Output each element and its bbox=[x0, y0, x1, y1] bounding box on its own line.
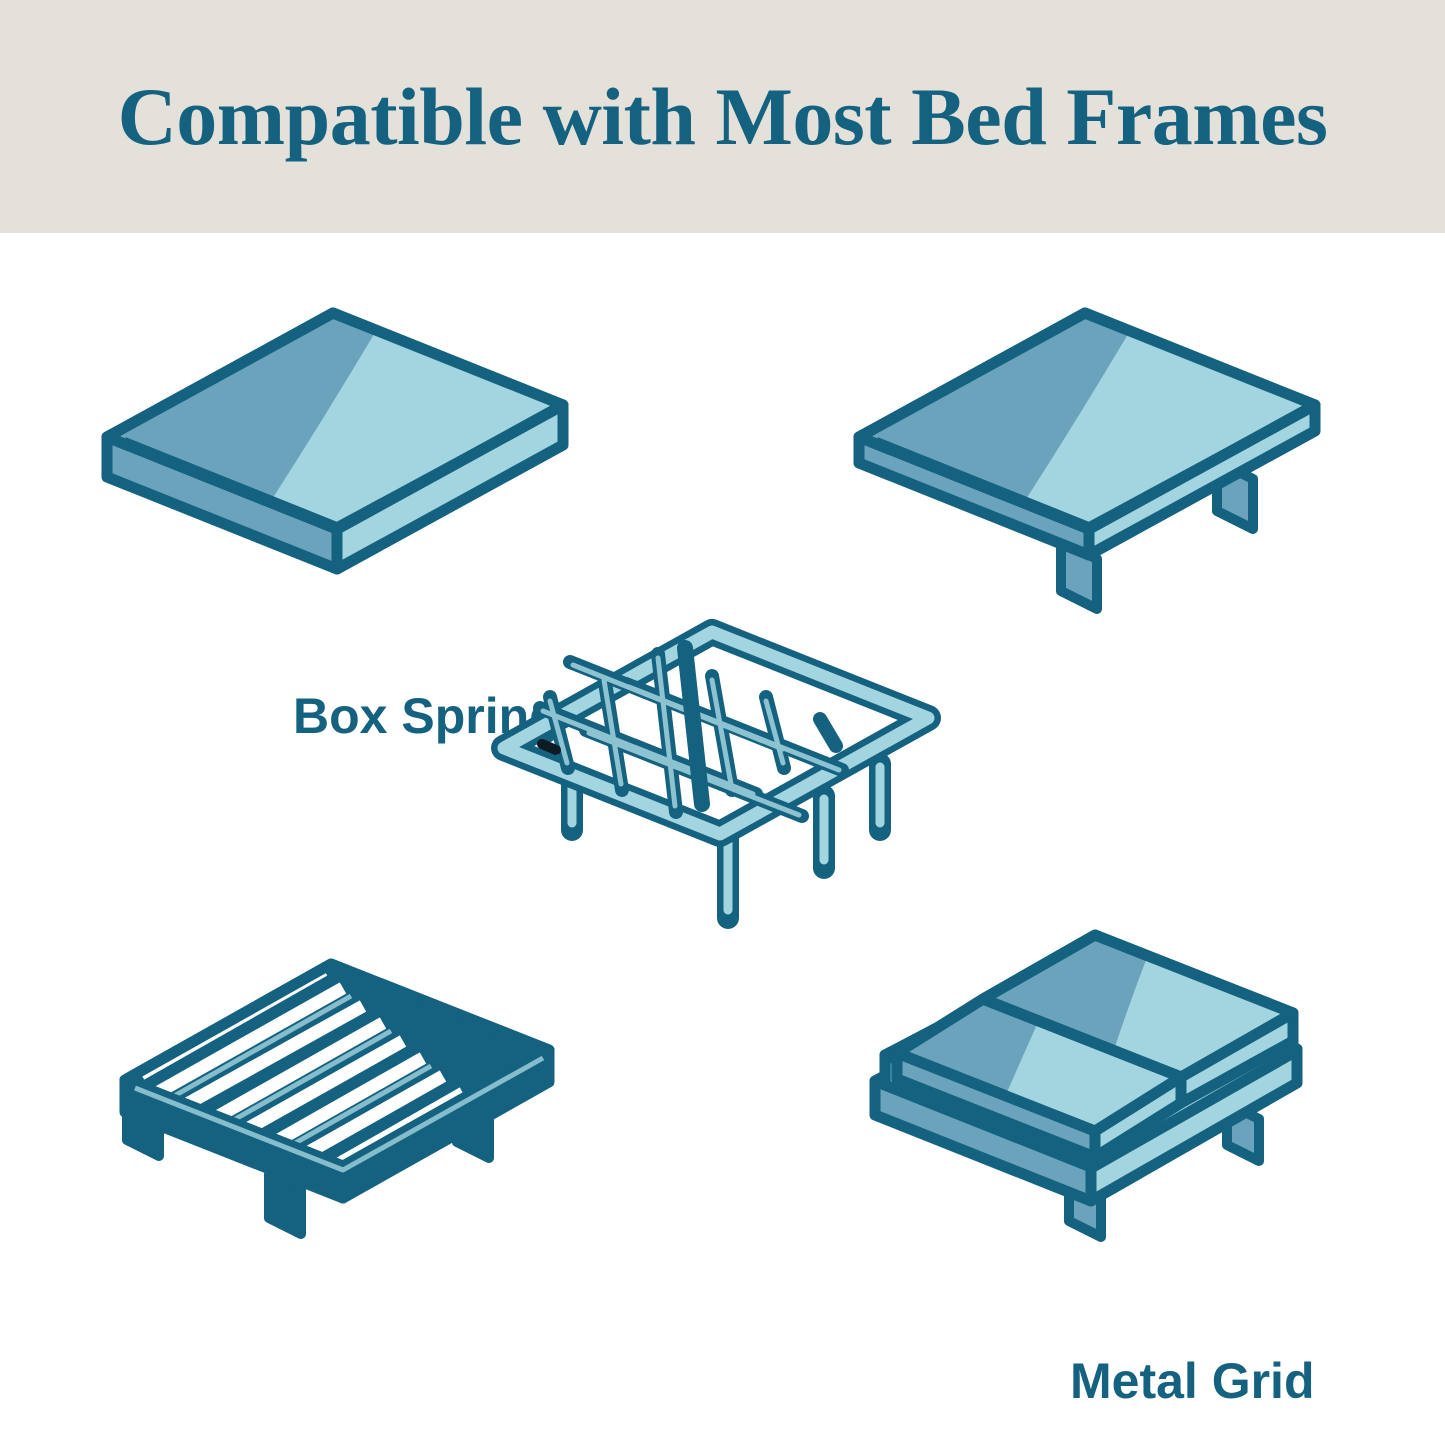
figure-adjustable-base: Adjustable Base bbox=[845, 913, 1335, 1253]
figure-platform: Platform bbox=[845, 293, 1335, 593]
infographic-page: Compatible with Most Bed Frames bbox=[0, 0, 1445, 1445]
metal-grid-icon bbox=[480, 618, 950, 938]
header-band: Compatible with Most Bed Frames bbox=[0, 0, 1445, 233]
figure-box-spring: Box Spring bbox=[95, 293, 575, 593]
slatted-icon bbox=[105, 948, 565, 1248]
figure-metal-grid: Metal Grid bbox=[480, 618, 950, 938]
box-spring-icon bbox=[95, 293, 575, 593]
figure-slatted: Slatted bbox=[105, 948, 565, 1248]
adjustable-base-icon bbox=[845, 913, 1335, 1253]
platform-icon bbox=[845, 293, 1335, 593]
illustration-grid: Box Spring bbox=[0, 233, 1445, 1445]
figure-label-metal-grid: Metal Grid bbox=[1070, 1356, 1314, 1406]
page-title: Compatible with Most Bed Frames bbox=[78, 76, 1368, 158]
